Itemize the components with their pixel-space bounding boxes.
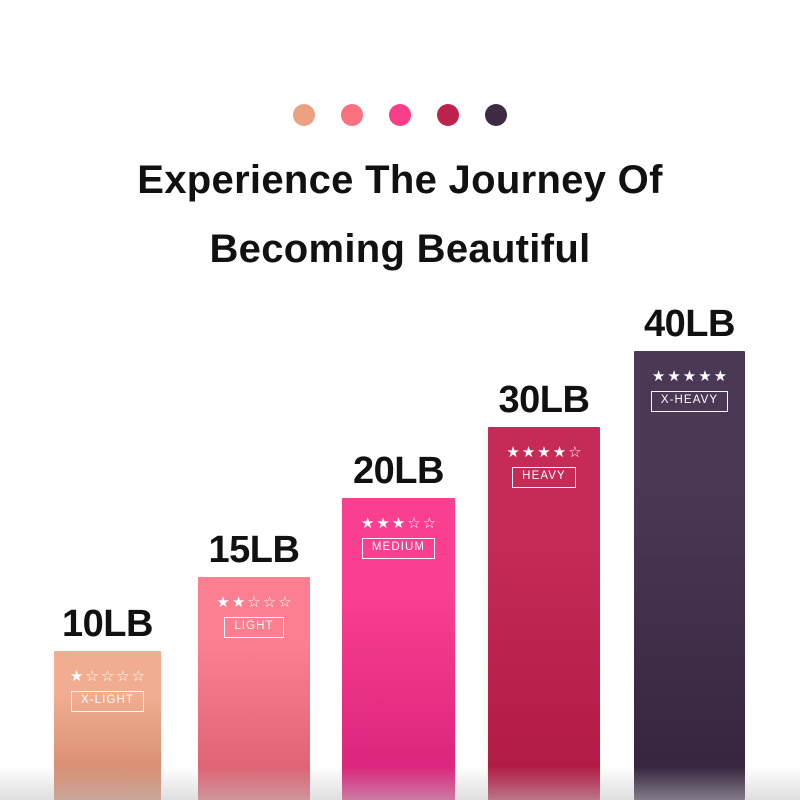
bar-group-30lb[interactable]: ★★★★☆HEAVY30LB <box>488 427 600 800</box>
bar-10lb[interactable] <box>54 651 161 800</box>
dot-medium-icon <box>389 104 411 126</box>
bar-label-15lb: 15LB <box>209 529 300 572</box>
bar-group-10lb[interactable]: ★☆☆☆☆X-LIGHT10LB <box>54 651 161 800</box>
dot-x-light-icon <box>293 104 315 126</box>
page-title-line-2: Becoming Beautiful <box>0 215 800 284</box>
dot-light-icon <box>341 104 363 126</box>
bar-30lb[interactable] <box>488 427 600 800</box>
bar-label-30lb: 30LB <box>499 379 590 422</box>
bar-label-40lb: 40LB <box>644 303 735 346</box>
infographic-page: Experience The Journey Of Becoming Beaut… <box>0 0 800 800</box>
page-title: Experience The Journey Of Becoming Beaut… <box>0 146 800 284</box>
bar-15lb[interactable] <box>198 577 310 800</box>
bar-group-15lb[interactable]: ★★☆☆☆LIGHT15LB <box>198 577 310 800</box>
bar-40lb[interactable] <box>634 351 745 800</box>
color-swatch-row <box>0 104 800 126</box>
bar-label-20lb: 20LB <box>353 450 444 493</box>
bar-label-10lb: 10LB <box>62 603 153 646</box>
bar-group-40lb[interactable]: ★★★★★X-HEAVY40LB <box>634 351 745 800</box>
dot-heavy-icon <box>437 104 459 126</box>
dot-x-heavy-icon <box>485 104 507 126</box>
bar-group-20lb[interactable]: ★★★☆☆MEDIUM20LB <box>342 498 455 800</box>
page-title-line-1: Experience The Journey Of <box>0 146 800 215</box>
bar-20lb[interactable] <box>342 498 455 800</box>
